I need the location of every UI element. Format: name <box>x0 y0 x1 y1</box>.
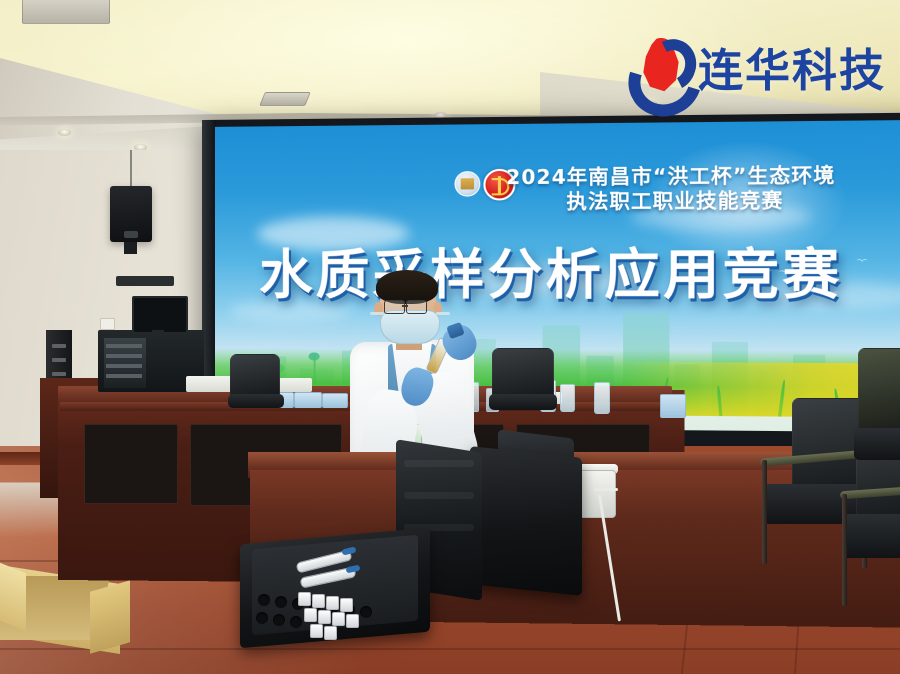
sample-vial-case-5 <box>304 608 317 622</box>
sample-bottle-2 <box>560 384 575 412</box>
ceiling-vent-right <box>259 92 311 106</box>
hair <box>376 270 438 304</box>
brand-watermark: 连华科技 <box>628 34 886 99</box>
brand-name-text: 连华科技 <box>698 34 886 99</box>
blue-box-2 <box>294 392 322 408</box>
bird-icon-3 <box>857 259 868 264</box>
screen-header-line-2: 执法职工职业技能竞赛 <box>567 183 784 214</box>
face-mask <box>380 310 440 344</box>
power-cable-2 <box>594 488 618 491</box>
downlight-1 <box>58 129 71 136</box>
wall-panel <box>116 276 174 286</box>
floor-tile-line-2 <box>0 648 900 650</box>
eyeglasses-bridge <box>402 305 408 307</box>
sample-vial-case-3 <box>326 596 339 610</box>
eyeglasses-left-lens <box>384 300 405 314</box>
government-emblem <box>455 171 481 197</box>
sample-vial-case-1 <box>298 592 311 606</box>
photo-scene: 2024年南昌市“洪工杯”生态环境 执法职工职业技能竞赛 水质采样分析应用竞赛 <box>0 0 900 674</box>
eyeglasses-right-lens <box>406 300 427 314</box>
speaker-mount <box>124 242 137 254</box>
sample-vial-case-7 <box>332 612 345 626</box>
sample-vial-case-2 <box>312 594 325 608</box>
sample-vial-case-9 <box>310 624 323 638</box>
mask-strap-left <box>370 312 384 315</box>
sample-vial-case-4 <box>340 598 353 612</box>
monitor-stand <box>152 330 164 337</box>
blue-box-4 <box>660 394 686 418</box>
sample-vial-case-10 <box>324 626 337 640</box>
av-monitor[interactable] <box>132 296 188 334</box>
equipment-case-right <box>470 446 582 596</box>
speaker-cable <box>130 150 132 188</box>
sample-vial-case-6 <box>318 610 331 624</box>
podium-panel-1 <box>84 424 178 504</box>
lianhua-tech-logo-icon <box>628 36 690 98</box>
wall-speaker-icon <box>110 186 152 242</box>
sample-bottle-3 <box>594 382 610 414</box>
ceiling-vent-left <box>22 0 110 24</box>
sample-vial-case-8 <box>346 614 359 628</box>
light-switch[interactable] <box>100 318 115 330</box>
mask-strap-right <box>436 312 450 315</box>
